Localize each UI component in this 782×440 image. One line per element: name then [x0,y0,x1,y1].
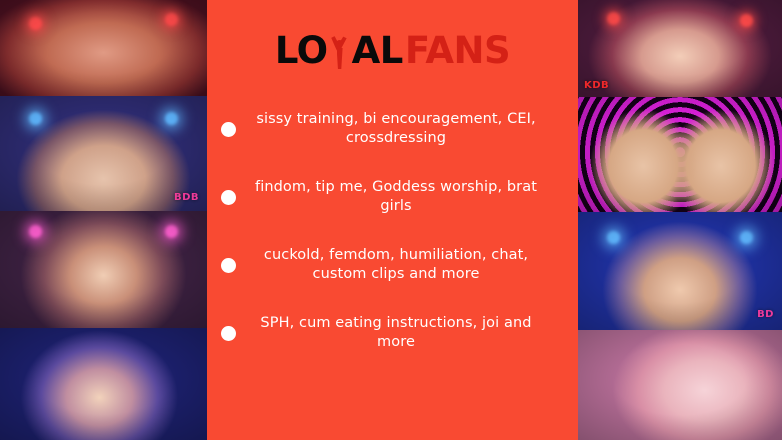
lamp-glow-icon [165,112,178,125]
photo-tile-right-2[interactable] [578,97,782,212]
list-item: findom, tip me, Goddess worship, brat gi… [207,163,578,231]
benefit-text: SPH, cum eating instructions, joi and mo… [248,314,560,353]
lamp-glow-icon [165,13,178,26]
photo-tile-left-4[interactable] [0,328,207,440]
benefits-list: sissy training, bi encouragement, CEI, c… [207,95,578,367]
benefit-text: cuckold, femdom, humiliation, chat, cust… [248,246,560,285]
photo-tile-right-4[interactable] [578,330,782,440]
tile-vignette [578,97,782,212]
right-photo-gallery: KDB BD [578,0,782,440]
benefit-text: findom, tip me, Goddess worship, brat gi… [248,178,560,217]
bullet-dot-icon [221,122,236,137]
lamp-glow-icon [165,225,178,238]
loyalfans-logo[interactable]: LO AL FANS [275,31,510,69]
bullet-dot-icon [221,190,236,205]
logo-text-fans: FANS [405,32,510,69]
lamp-glow-icon [740,14,753,27]
person-figure-y-icon [327,31,353,69]
lamp-glow-icon [29,112,42,125]
watermark-label: KDB [584,81,609,91]
photo-tile-left-1[interactable] [0,0,207,96]
bullet-dot-icon [221,326,236,341]
tile-vignette [0,328,207,440]
logo-text-lo: LO [275,32,328,69]
left-photo-gallery: BDB [0,0,207,440]
lamp-glow-icon [607,12,620,25]
photo-tile-right-3[interactable]: BD [578,212,782,330]
photo-tile-left-3[interactable] [0,211,207,328]
lamp-glow-icon [607,231,620,244]
watermark-label: BD [757,310,774,320]
list-item: cuckold, femdom, humiliation, chat, cust… [207,231,578,299]
lamp-glow-icon [29,225,42,238]
figure-body [337,48,343,69]
tile-vignette [578,330,782,440]
benefit-text: sissy training, bi encouragement, CEI, c… [248,110,560,149]
lamp-glow-icon [29,17,42,30]
list-item: sissy training, bi encouragement, CEI, c… [207,95,578,163]
tile-vignette [578,212,782,330]
photo-tile-right-1[interactable]: KDB [578,0,782,97]
watermark-label: BDB [174,193,199,203]
center-content-panel: LO AL FANS sissy training, bi encouragem… [207,0,578,440]
bullet-dot-icon [221,258,236,273]
photo-tile-left-2[interactable]: BDB [0,96,207,211]
list-item: SPH, cum eating instructions, joi and mo… [207,299,578,367]
promo-card: BDB LO AL FANS sissy tra [0,0,782,440]
lamp-glow-icon [740,231,753,244]
logo-text-al: AL [352,32,403,69]
